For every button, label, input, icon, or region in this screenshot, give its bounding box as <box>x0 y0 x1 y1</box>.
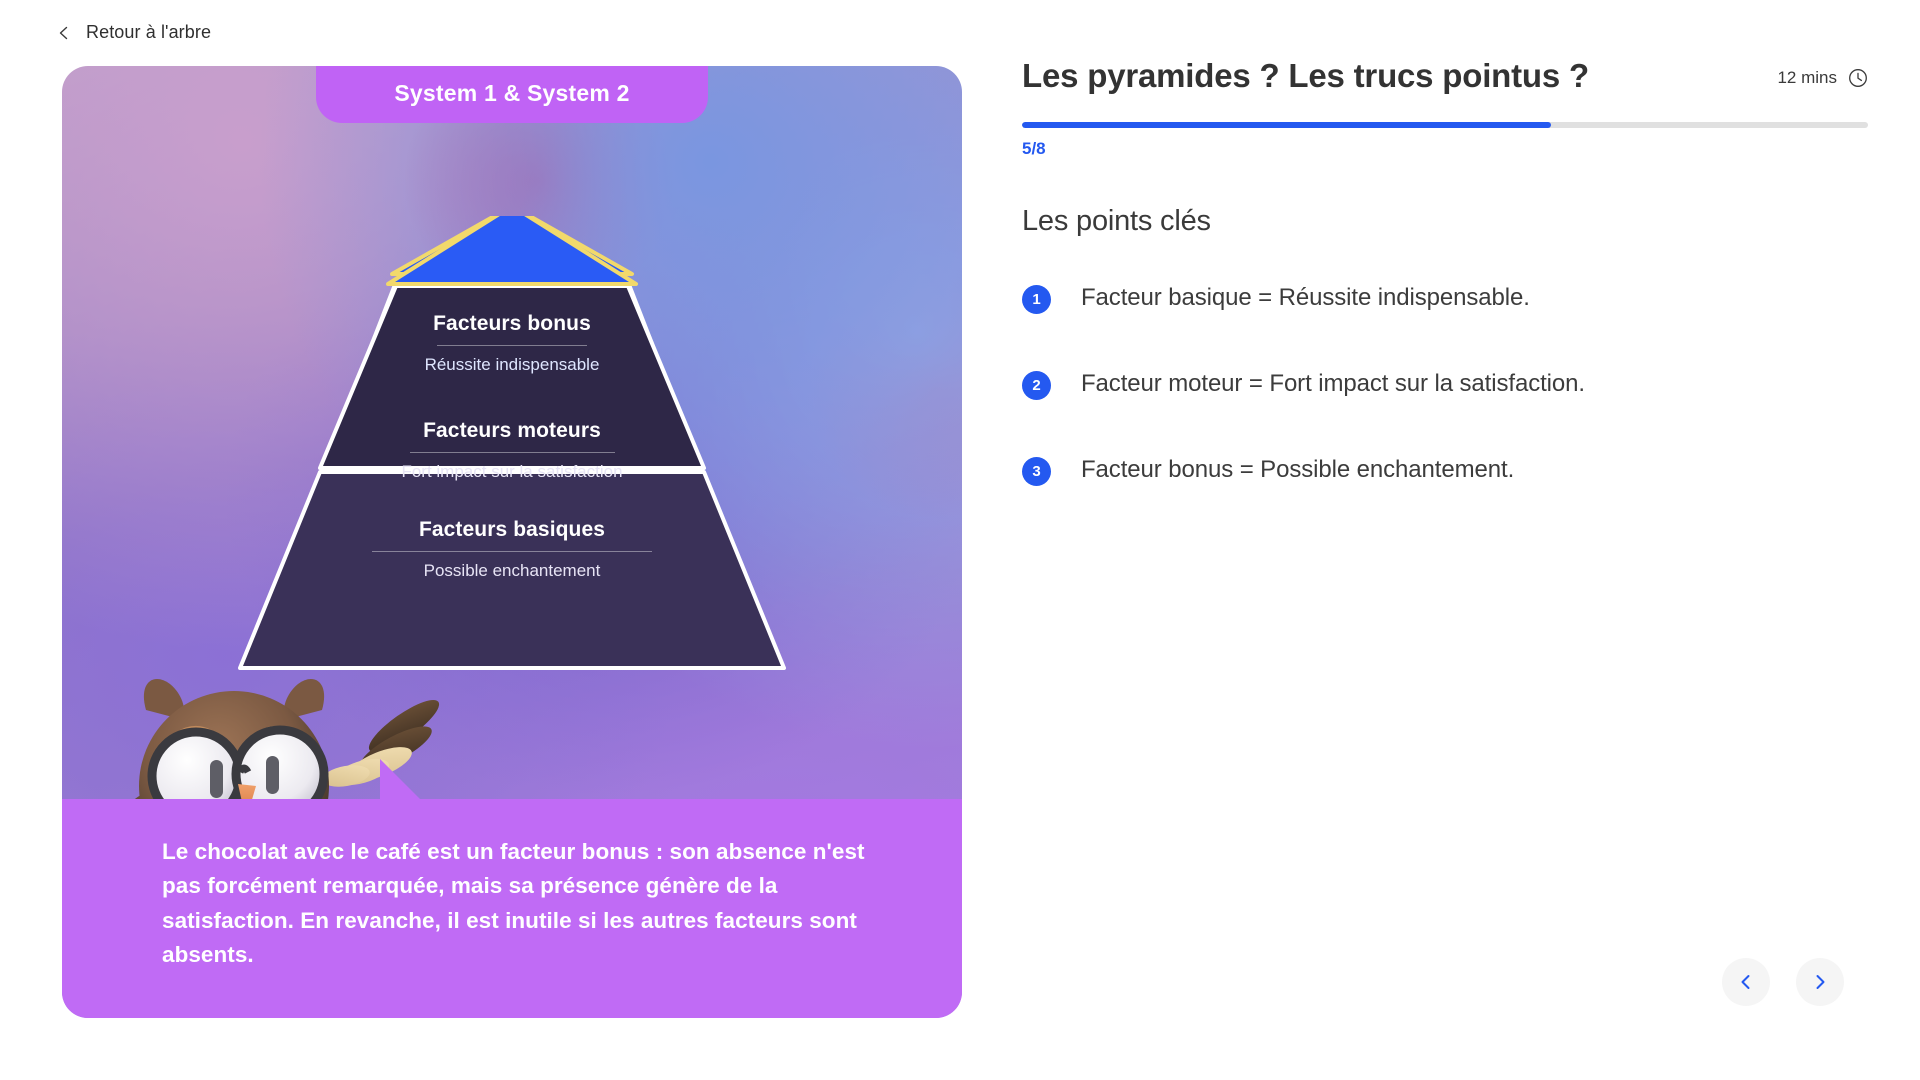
detail-header: Les pyramides ? Les trucs pointus ? 12 m… <box>1022 56 1868 96</box>
list-item: 1 Facteur basique = Réussite indispensab… <box>1022 282 1868 314</box>
keypoint-text: Facteur bonus = Possible enchantement. <box>1081 454 1514 486</box>
back-to-tree-link[interactable]: Retour à l'arbre <box>56 22 211 43</box>
list-item: 3 Facteur bonus = Possible enchantement. <box>1022 454 1868 486</box>
owl-ear-right <box>284 679 325 720</box>
keypoint-text: Facteur basique = Réussite indispensable… <box>1081 282 1530 314</box>
pyramid-diagram: Facteurs bonus Réussite indispensable Fa… <box>62 216 962 676</box>
pager-controls <box>1722 958 1844 1006</box>
lesson-visual-card: System 1 & System 2 <box>62 66 962 1018</box>
keypoint-text: Facteur moteur = Fort impact sur la sati… <box>1081 368 1585 400</box>
lesson-progress-fill <box>1022 122 1551 128</box>
back-to-tree-label: Retour à l'arbre <box>86 22 211 43</box>
clock-icon <box>1848 68 1868 88</box>
lesson-progress-bar <box>1022 122 1868 128</box>
owl-ear-left <box>144 679 185 720</box>
lesson-progress-count: 5/8 <box>1022 139 1868 159</box>
owl-pupil-left <box>210 760 223 798</box>
speech-bubble-tail <box>380 759 420 799</box>
list-item: 2 Facteur moteur = Fort impact sur la sa… <box>1022 368 1868 400</box>
key-points-heading: Les points clés <box>1022 205 1868 238</box>
keypoint-number-badge: 1 <box>1022 285 1051 314</box>
next-slide-button[interactable] <box>1796 958 1844 1006</box>
page-title: Les pyramides ? Les trucs pointus ? <box>1022 56 1589 96</box>
duration-label: 12 mins <box>1777 68 1837 88</box>
key-points-list: 1 Facteur basique = Réussite indispensab… <box>1022 282 1868 487</box>
mascot-speech-bubble: Le chocolat avec le café est un facteur … <box>62 799 962 1018</box>
lesson-detail-panel: Les pyramides ? Les trucs pointus ? 12 m… <box>1022 56 1868 1036</box>
owl-pupil-right <box>266 756 279 794</box>
previous-slide-button[interactable] <box>1722 958 1770 1006</box>
topic-pill: System 1 & System 2 <box>316 66 708 123</box>
lesson-duration: 12 mins <box>1777 56 1868 88</box>
keypoint-number-badge: 3 <box>1022 457 1051 486</box>
chevron-right-icon <box>1811 973 1829 991</box>
chevron-left-icon <box>56 25 72 41</box>
speech-bubble-text: Le chocolat avec le café est un facteur … <box>162 835 892 972</box>
keypoint-number-badge: 2 <box>1022 371 1051 400</box>
chevron-left-icon <box>1737 973 1755 991</box>
